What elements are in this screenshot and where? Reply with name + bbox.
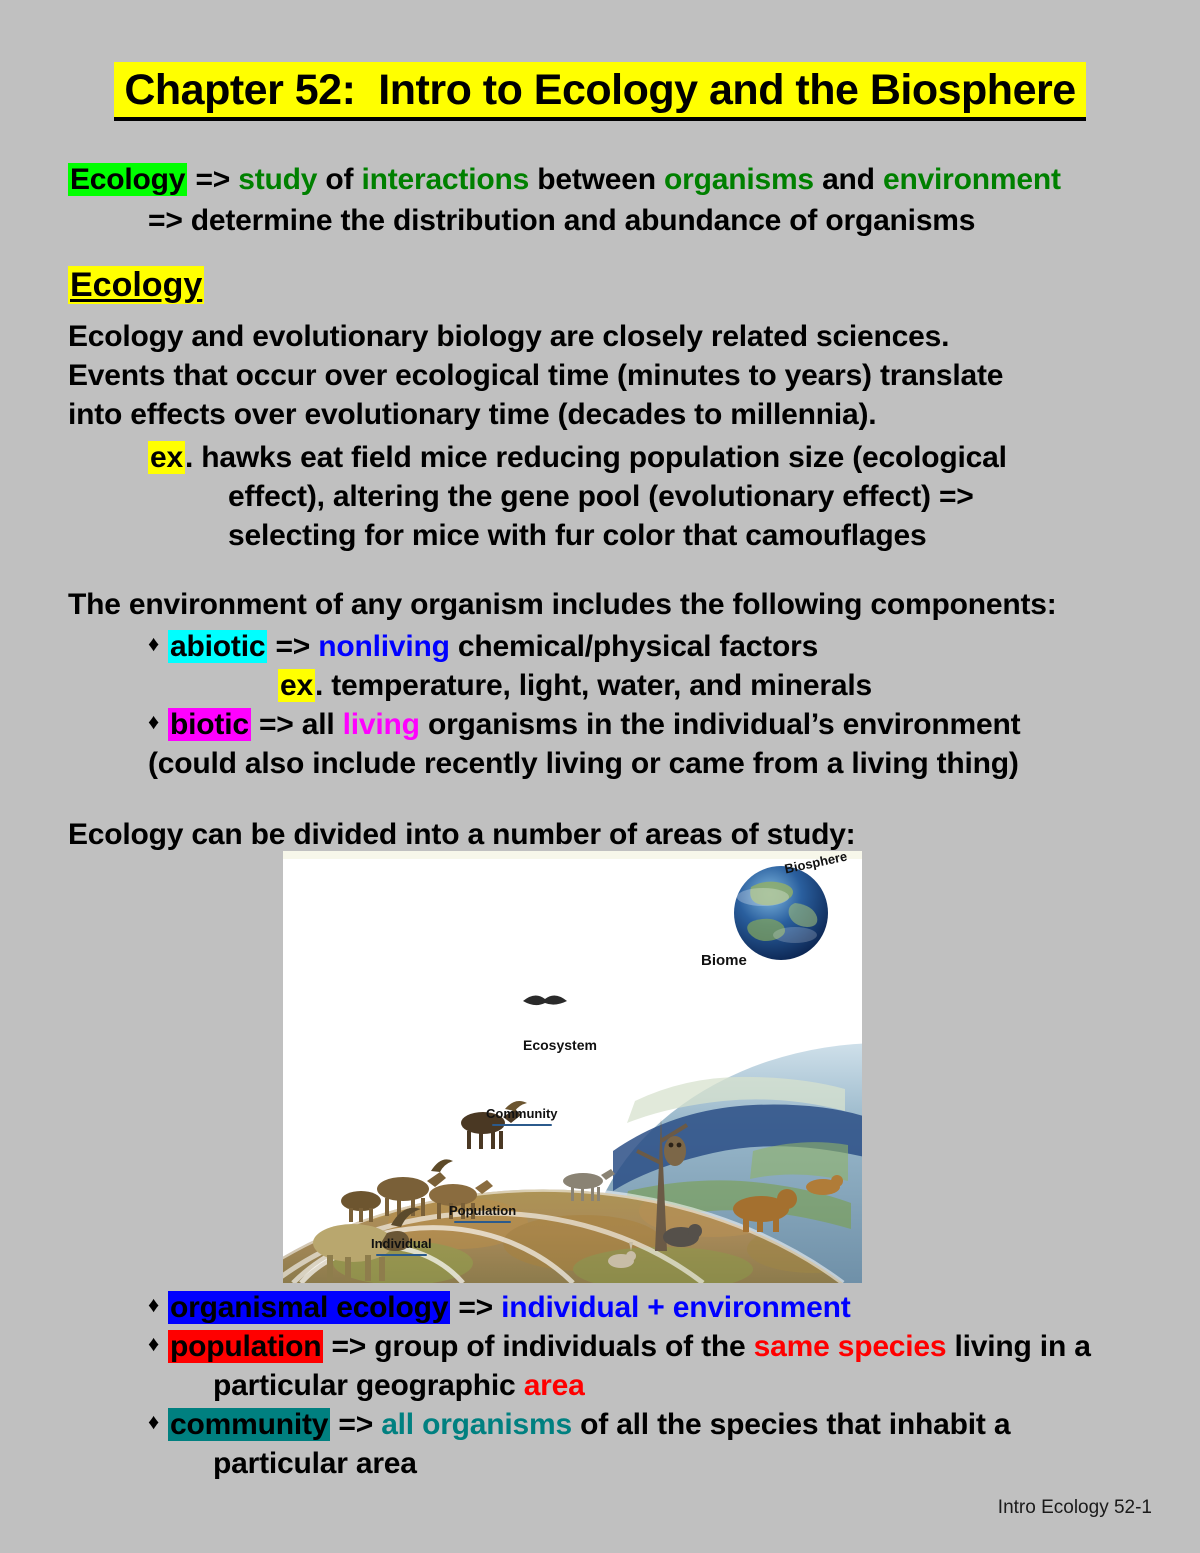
ecology-paragraph: Ecology and evolutionary biology are clo… — [68, 317, 1168, 434]
figure-label-population: Population — [449, 1203, 516, 1218]
population-line2-pre: particular geographic — [213, 1369, 516, 1402]
biotic-living: living — [343, 708, 420, 741]
ecology-example-line3: selecting for mice with fur color that c… — [228, 516, 1168, 555]
ecology-section: Ecology Ecology and evolutionary biology… — [68, 266, 1168, 555]
ecology-para-line3: into effects over evolutionary time (dec… — [68, 395, 1168, 434]
areas-bullets: ♦organismal ecology => individual + envi… — [68, 1288, 1188, 1483]
biotic-pre: all — [302, 708, 335, 741]
abiotic-example: ex. temperature, light, water, and miner… — [278, 666, 1178, 705]
ecology-example: ex. hawks eat field mice reducing popula… — [148, 438, 1168, 555]
bullet-organismal-ecology: ♦organismal ecology => individual + envi… — [148, 1288, 1188, 1327]
ecology-section-heading-wrap: Ecology — [68, 266, 1168, 305]
figure-label-community: Community — [486, 1106, 558, 1121]
ecology-hierarchy-illustration — [283, 851, 862, 1283]
figure-label-biome: Biome — [701, 952, 747, 969]
diamond-bullet-icon: ♦ — [148, 1409, 159, 1434]
arrow-biotic: => — [259, 708, 294, 741]
seg-study: study — [238, 163, 317, 196]
example-label-1: ex — [148, 441, 185, 474]
page-title: Chapter 52: Intro to Ecology and the Bio… — [114, 62, 1085, 121]
seg-interactions: interactions — [361, 163, 529, 196]
seg-of: of — [325, 163, 353, 196]
bullet-biotic: ♦biotic => all living organisms in the i… — [148, 705, 1178, 744]
ecology-term-highlight: Ecology — [68, 163, 187, 196]
diamond-bullet-icon: ♦ — [148, 1292, 159, 1317]
page-footer: Intro Ecology 52-1 — [998, 1497, 1152, 1519]
arrow-population: => — [331, 1330, 366, 1363]
arrow-1: => — [195, 163, 230, 196]
community-line2: particular area — [213, 1444, 1188, 1483]
figure-label-ecosystem: Ecosystem — [523, 1037, 597, 1053]
figure-label-individual: Individual — [371, 1236, 432, 1251]
ecology-section-heading: Ecology — [68, 266, 204, 304]
diamond-bullet-icon: ♦ — [148, 709, 159, 734]
bullet-community: ♦community => all organisms of all the s… — [148, 1405, 1188, 1444]
page-title-container: Chapter 52: Intro to Ecology and the Bio… — [0, 0, 1200, 121]
population-def-post: living in a — [955, 1330, 1091, 1363]
arrow-community: => — [338, 1408, 373, 1441]
environment-section: The environment of any organism includes… — [68, 585, 1178, 783]
abiotic-term: abiotic — [168, 630, 267, 663]
bullet-abiotic: ♦abiotic => nonliving chemical/physical … — [148, 627, 1178, 666]
arrow-organismal: => — [458, 1291, 493, 1324]
biotic-rest: organisms in the individual’s environmen… — [428, 708, 1020, 741]
owl-figure — [664, 1136, 686, 1166]
seg-and: and — [822, 163, 875, 196]
organismal-ecology-term: organismal ecology — [168, 1291, 450, 1324]
abiotic-rest: chemical/physical factors — [458, 630, 818, 663]
slide-page: Chapter 52: Intro to Ecology and the Bio… — [0, 0, 1200, 1553]
ecology-example-line1-rest: . hawks eat field mice reducing populati… — [185, 441, 1007, 474]
diamond-bullet-icon: ♦ — [148, 631, 159, 656]
organismal-ecology-definition: individual + environment — [501, 1291, 850, 1324]
population-same-species: same species — [754, 1330, 947, 1363]
areas-intro: Ecology can be divided into a number of … — [68, 815, 1168, 854]
community-all-organisms: all organisms — [381, 1408, 572, 1441]
bullet-population: ♦population => group of individuals of t… — [148, 1327, 1188, 1366]
abiotic-nonliving: nonliving — [318, 630, 450, 663]
ecology-hierarchy-figure: Biosphere Biome Ecosystem Community Popu… — [283, 851, 862, 1283]
ecology-definition-line2: => determine the distribution and abunda… — [148, 201, 1168, 240]
arrow-abiotic: => — [275, 630, 310, 663]
population-line2: particular geographic area — [213, 1366, 1188, 1405]
population-term: population — [168, 1330, 323, 1363]
population-def-pre: group of individuals of the — [374, 1330, 745, 1363]
population-line2-area: area — [524, 1369, 585, 1402]
environment-intro: The environment of any organism includes… — [68, 585, 1178, 624]
ecology-para-line2: Events that occur over ecological time (… — [68, 356, 1168, 395]
abiotic-example-rest: . temperature, light, water, and mineral… — [315, 669, 872, 702]
diamond-bullet-icon: ♦ — [148, 1331, 159, 1356]
seg-environment: environment — [883, 163, 1061, 196]
ecology-para-line1: Ecology and evolutionary biology are clo… — [68, 317, 1168, 356]
seg-organisms: organisms — [664, 163, 814, 196]
biotic-term: biotic — [168, 708, 251, 741]
ecology-example-line1: ex. hawks eat field mice reducing popula… — [148, 438, 1168, 477]
ecology-definition-line1: Ecology => study of interactions between… — [68, 160, 1168, 199]
example-label-2: ex — [278, 669, 315, 702]
ecology-definition-block: Ecology => study of interactions between… — [68, 160, 1168, 240]
seg-between: between — [537, 163, 656, 196]
biotic-line2: (could also include recently living or c… — [148, 744, 1178, 783]
community-term: community — [168, 1408, 330, 1441]
ecology-example-line2: effect), altering the gene pool (evoluti… — [228, 477, 1168, 516]
community-def-post: of all the species that inhabit a — [580, 1408, 1010, 1441]
